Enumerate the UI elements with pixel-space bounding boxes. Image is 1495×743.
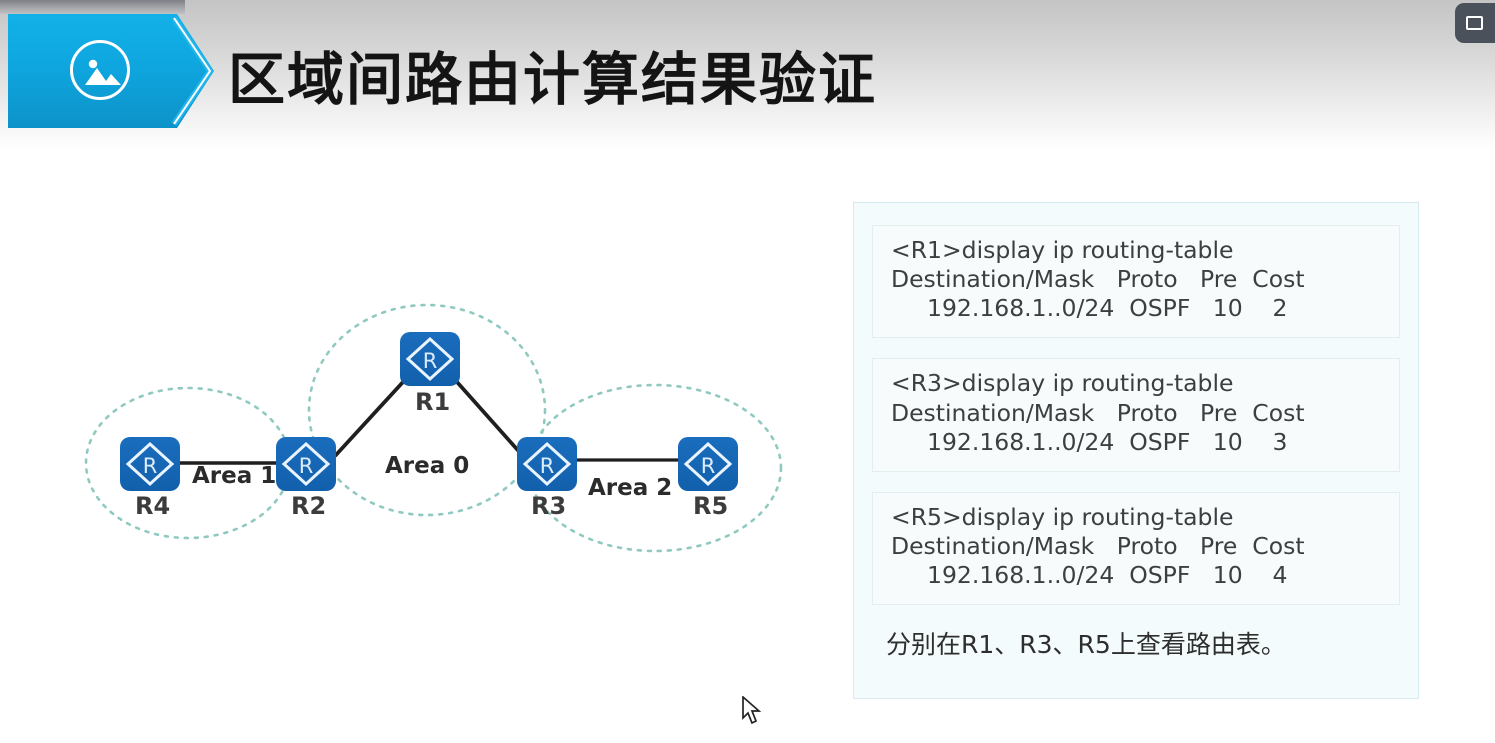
router-label-r1: R1 [415,388,450,416]
routing-table-header: Destination/Mask Proto Pre Cost [891,532,1385,561]
router-node-r1[interactable]: R [400,332,460,386]
area-label-1: Area 1 [192,463,276,489]
router-label-r5: R5 [693,492,728,520]
area-label-2: Area 2 [588,475,672,501]
routing-table-header: Destination/Mask Proto Pre Cost [891,399,1385,428]
page-title: 区域间路由计算结果验证 [228,34,877,116]
router-icon: R [678,437,738,491]
routing-table-row: 192.168.1..0/24 OSPF 10 4 [891,561,1385,590]
picture-in-picture-icon[interactable] [1455,3,1495,43]
routing-table-block-r1: <R1>display ip routing-table Destination… [872,225,1400,338]
routing-table-header: Destination/Mask Proto Pre Cost [891,265,1385,294]
cli-prompt: <R5>display ip routing-table [891,503,1385,532]
header-top-dark-strip [0,0,185,14]
svg-text:R: R [540,454,555,478]
router-icon: R [517,437,577,491]
router-icon: R [400,332,460,386]
routing-table-block-r5: <R5>display ip routing-table Destination… [872,492,1400,605]
link-r2-r1 [335,382,403,456]
svg-text:R: R [299,454,314,478]
cli-prompt: <R3>display ip routing-table [891,369,1385,398]
router-label-r3: R3 [531,492,566,520]
routing-table-panel: <R1>display ip routing-table Destination… [853,202,1419,699]
slide-canvas: 区域间路由计算结果验证 R R4 [0,0,1495,743]
router-icon: R [276,437,336,491]
svg-text:R: R [701,454,716,478]
area-label-0: Area 0 [385,453,469,479]
routing-table-row: 192.168.1..0/24 OSPF 10 2 [891,294,1385,323]
panel-caption: 分别在R1、R3、R5上查看路由表。 [872,625,1400,661]
header-banner-arrow-outline [170,14,218,128]
router-label-r2: R2 [291,492,326,520]
svg-text:R: R [143,454,158,478]
link-r1-r3 [457,382,523,456]
cli-prompt: <R1>display ip routing-table [891,236,1385,265]
svg-text:R: R [423,349,438,373]
router-node-r3[interactable]: R [517,437,577,491]
routing-table-block-r3: <R3>display ip routing-table Destination… [872,358,1400,471]
router-icon: R [120,437,180,491]
router-label-r4: R4 [135,492,170,520]
router-node-r5[interactable]: R [678,437,738,491]
pip-glyph [1466,16,1483,30]
network-diagram: R R4 R R2 R R1 R R3 [55,210,845,610]
image-picture-icon [70,40,130,100]
routing-table-row: 192.168.1..0/24 OSPF 10 3 [891,428,1385,457]
router-node-r4[interactable]: R [120,437,180,491]
router-node-r2[interactable]: R [276,437,336,491]
